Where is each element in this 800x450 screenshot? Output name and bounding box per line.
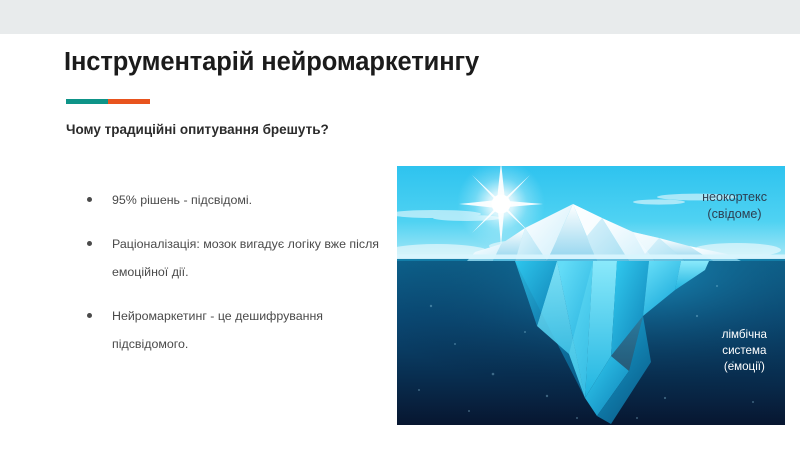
list-item: Нейромаркетинг - це дешифрування підсвід… (84, 302, 384, 358)
iceberg-illustration: неокортекс (свідоме) лімбічна система (е… (397, 166, 785, 425)
slide-root: Інструментарій нейромаркетингу Чому трад… (0, 0, 800, 450)
page-title: Інструментарій нейромаркетингу (64, 48, 479, 77)
accent-bar-orange-segment (108, 99, 150, 104)
bullet-dot-icon (87, 197, 92, 202)
list-item-label: 95% рішень - підсвідомі. (112, 193, 252, 207)
list-item: 95% рішень - підсвідомі. (84, 186, 384, 214)
accent-bar (66, 99, 150, 104)
bullet-dot-icon (87, 313, 92, 318)
list-item-label: Раціоналізація: мозок вигадує логіку вже… (112, 237, 379, 279)
list-item: Раціоналізація: мозок вигадує логіку вже… (84, 230, 384, 286)
bullet-dot-icon (87, 241, 92, 246)
accent-bar-teal-segment (66, 99, 108, 104)
iceberg-graphic (397, 166, 785, 425)
bullet-list: 95% рішень - підсвідомі. Раціоналізація:… (84, 186, 384, 374)
list-item-label: Нейромаркетинг - це дешифрування підсвід… (112, 309, 323, 351)
top-gray-strip (0, 0, 800, 34)
section-subtitle: Чому традиційні опитування брешуть? (66, 122, 329, 137)
